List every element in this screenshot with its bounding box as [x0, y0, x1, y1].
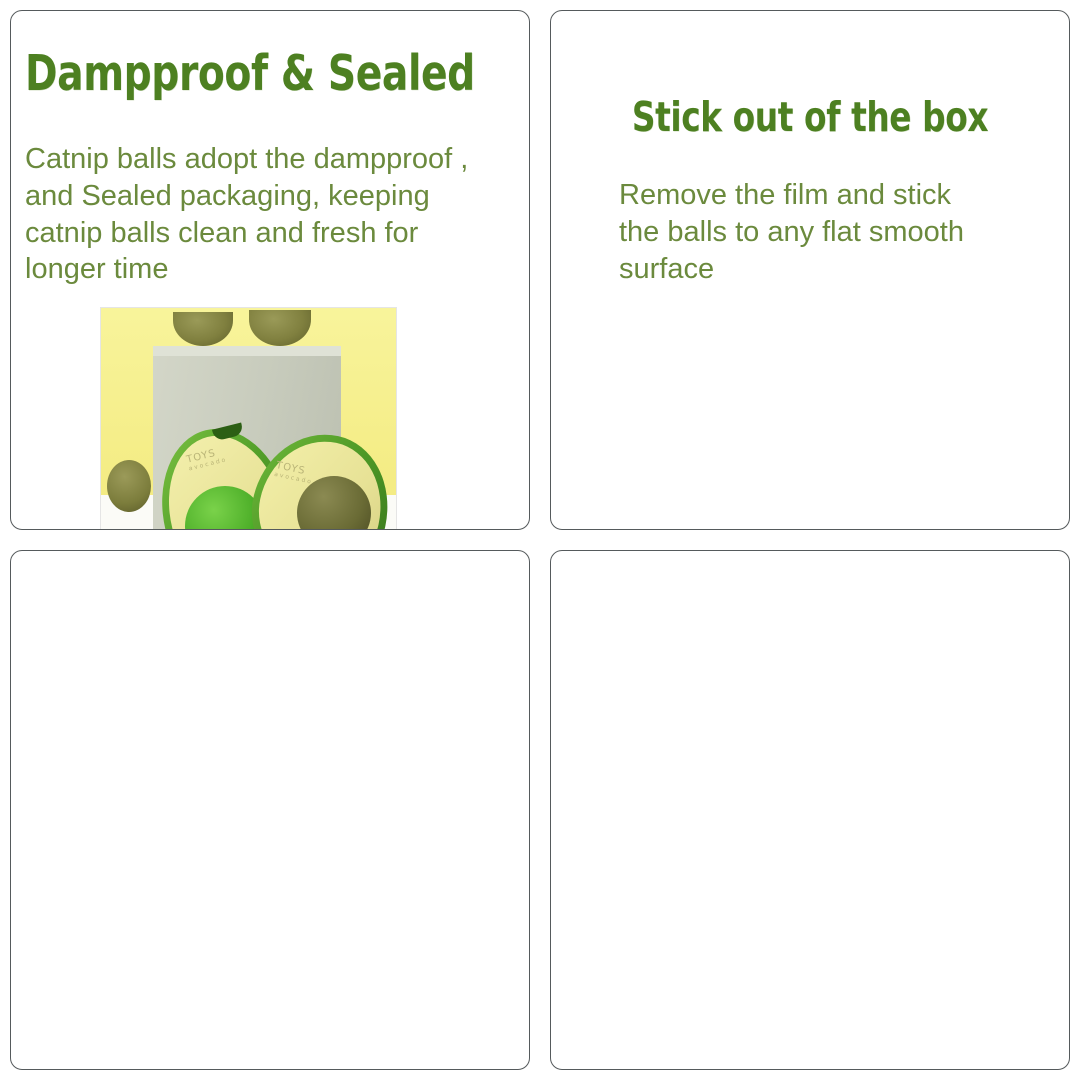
panel-2-heading: Stick out of the box: [632, 93, 988, 141]
panel-stick-out-of-the-box: Stick out of the box Remove the film and…: [550, 10, 1070, 530]
panel-1-heading: Dampproof & Sealed: [25, 45, 475, 102]
sealed-packaging-photo: TOYSavocado TOYSavocado: [101, 308, 396, 530]
panel-360-degree-rotation: 360 Degree rotation TOYSavocado: [10, 550, 530, 1070]
panel-2-body: Remove the film and stick the balls to a…: [619, 177, 1039, 287]
panel-1-body: Catnip balls adopt the dampproof , and S…: [25, 141, 525, 288]
grey-display-box-top: [153, 346, 341, 356]
catnip-ball-side: [107, 460, 151, 512]
feature-panel-grid: Dampproof & Sealed Catnip balls adopt th…: [0, 0, 1080, 1080]
panel-interchangeable-flavors: Nterchangeable flavors TOYSavocado TOYS: [550, 550, 1070, 1070]
panel-dampproof-sealed: Dampproof & Sealed Catnip balls adopt th…: [10, 10, 530, 530]
avocado-toy-catnip-ball: TOYSavocado: [253, 434, 388, 530]
